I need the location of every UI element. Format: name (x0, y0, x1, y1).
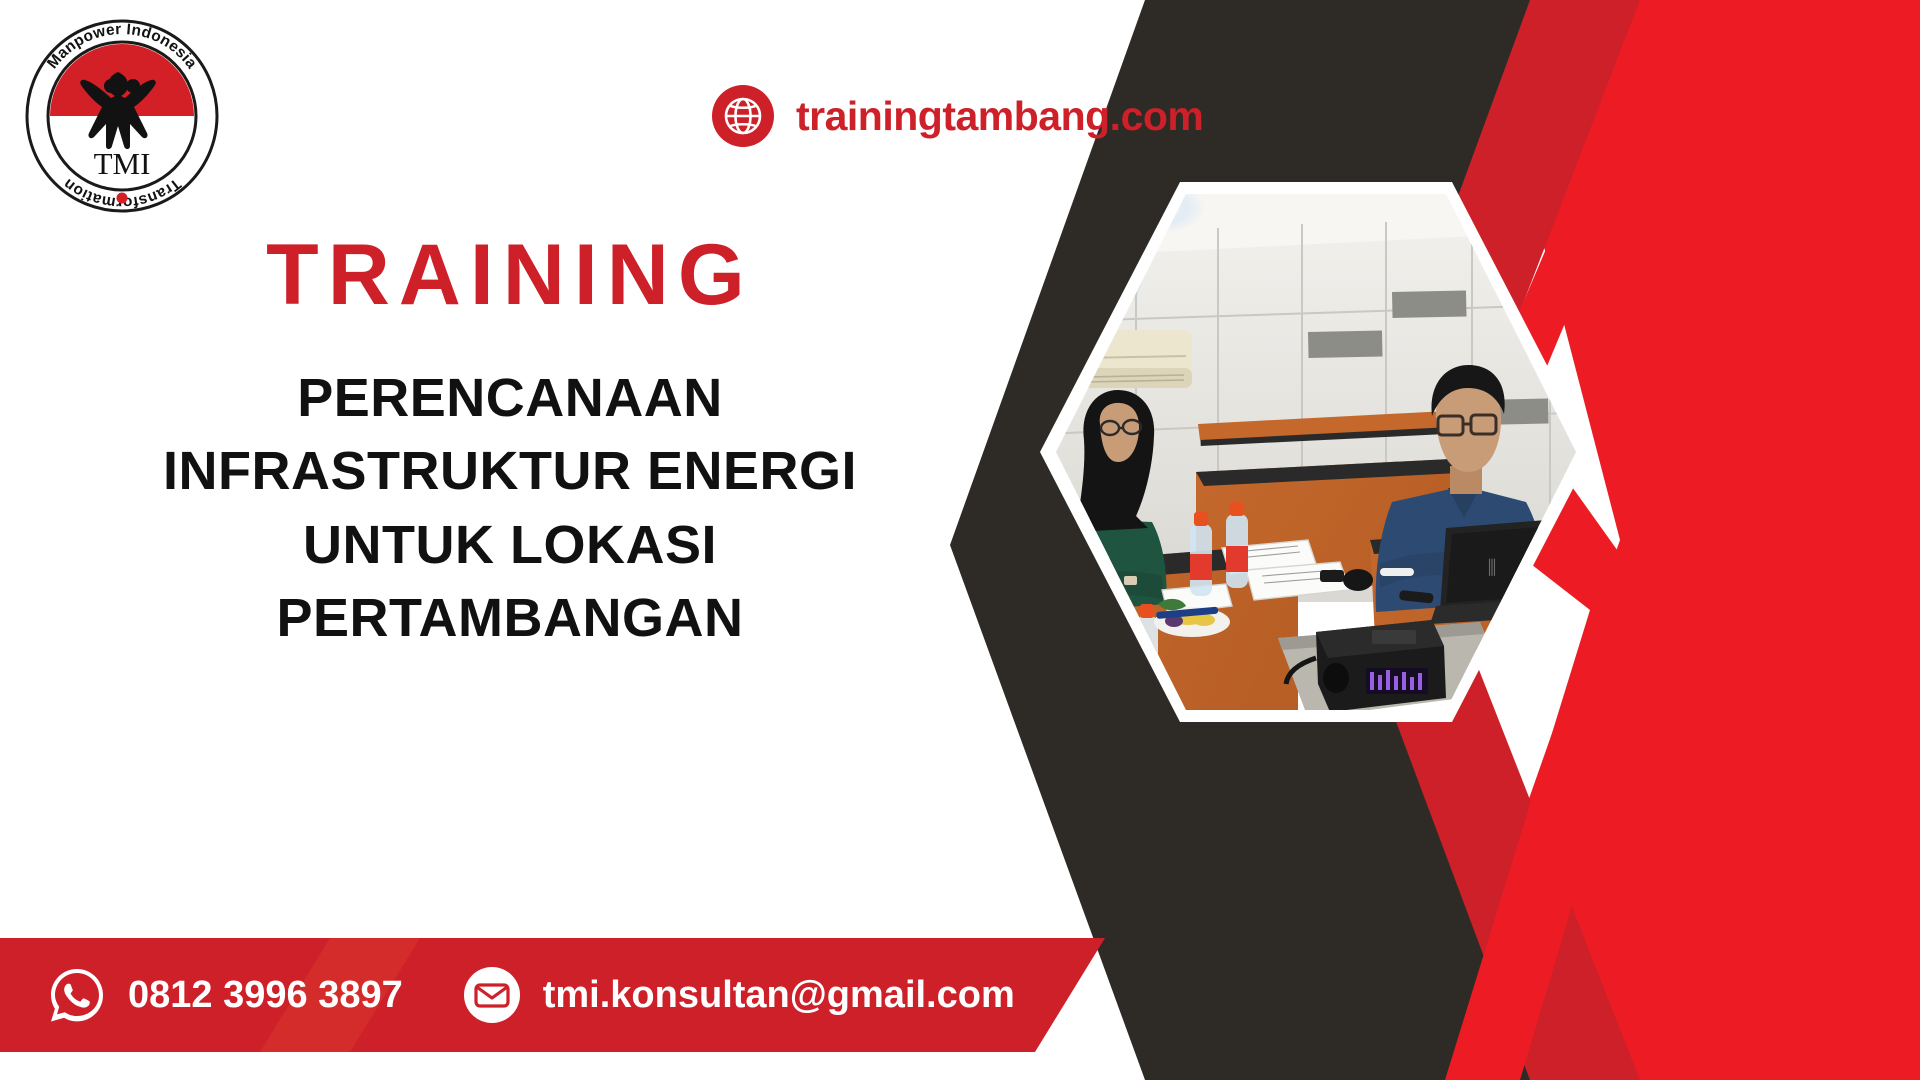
footer-contacts: 0812 3996 3897 tmi.konsultan@gmail.com (46, 962, 1015, 1028)
title-line: INFRASTRUKTUR ENERGI (0, 435, 1020, 508)
logo-abbreviation: TMI (94, 146, 151, 181)
banner-canvas: TMI Manpower Indonesia Transformation tr… (0, 0, 1920, 1080)
training-room-photo: ⫼ (1040, 172, 1592, 732)
email-address[interactable]: tmi.konsultan@gmail.com (543, 974, 1015, 1017)
title-line: UNTUK LOKASI (0, 509, 1020, 582)
title-line: PERENCANAAN (0, 362, 1020, 435)
mouse (1343, 569, 1373, 591)
phone-number[interactable]: 0812 3996 3897 (128, 974, 403, 1017)
wall-strip (1392, 290, 1467, 318)
headline-block: TRAINING PERENCANAAN INFRASTRUKTUR ENERG… (0, 232, 1020, 656)
globe-icon (712, 85, 774, 147)
course-title: PERENCANAAN INFRASTRUKTUR ENERGI UNTUK L… (0, 362, 1020, 656)
whatsapp-icon (46, 964, 108, 1026)
tmi-logo: TMI Manpower Indonesia Transformation (22, 16, 222, 216)
website-row[interactable]: trainingtambang.com (712, 85, 1203, 147)
logo-ring-dot (117, 193, 128, 204)
wall-strip (1308, 330, 1383, 358)
pen (1380, 568, 1414, 576)
title-line: PERTAMBANGAN (0, 582, 1020, 655)
email-contact[interactable]: tmi.konsultan@gmail.com (461, 964, 1015, 1026)
phone-contact[interactable]: 0812 3996 3897 (46, 964, 403, 1026)
remote (1320, 570, 1344, 582)
eyebrow-training: TRAINING (0, 232, 1020, 318)
envelope-icon (461, 964, 523, 1026)
svg-text:⫼: ⫼ (1488, 558, 1497, 579)
website-url[interactable]: trainingtambang.com (796, 93, 1203, 140)
